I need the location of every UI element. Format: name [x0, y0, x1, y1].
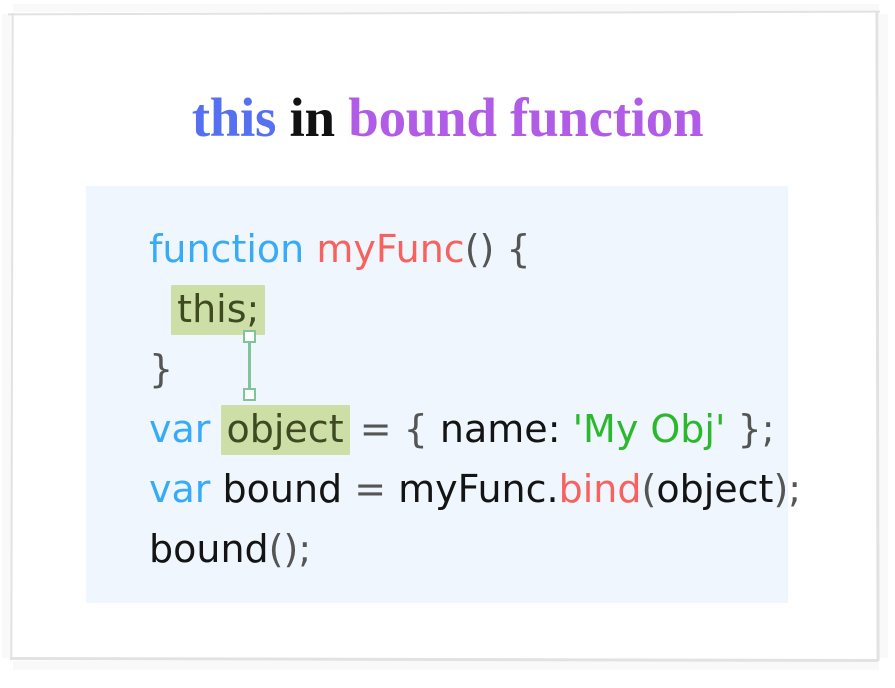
code-token: myFunc	[386, 467, 546, 511]
code-token: {	[404, 407, 428, 451]
code-token	[304, 227, 316, 271]
code-line: }	[149, 339, 801, 399]
code-lines: function myFunc() { this;}var object = {…	[149, 219, 801, 579]
code-token: }	[149, 347, 173, 391]
code-block: function myFunc() { this;}var object = {…	[86, 186, 788, 603]
code-token: ;	[298, 527, 311, 571]
code-line: this;	[149, 279, 801, 339]
code-token-highlight-object[interactable]: object	[221, 405, 350, 455]
code-line: var object = { name: 'My Obj' };	[149, 399, 801, 459]
code-token	[149, 287, 173, 331]
code-token	[348, 407, 360, 451]
code-token: myFunc	[316, 227, 464, 271]
code-token: .	[547, 467, 559, 511]
code-token: function	[149, 227, 304, 271]
code-token: )	[773, 467, 788, 511]
code-token: bind	[559, 467, 642, 511]
code-line: bound();	[149, 519, 801, 579]
code-token: var	[149, 407, 210, 451]
code-token: (	[642, 467, 657, 511]
code-token: bound	[149, 527, 269, 571]
code-token: :	[548, 407, 561, 451]
slide-title: this in bound function	[0, 85, 895, 151]
code-token: =	[360, 407, 392, 451]
title-segment-bound-function: bound function	[348, 87, 703, 148]
code-token	[725, 407, 737, 451]
frame-shade-bottom	[13, 661, 879, 670]
title-segment-this: this	[192, 87, 276, 148]
code-token: name	[428, 407, 548, 451]
code-token: var	[149, 467, 210, 511]
code-token: 'My Obj'	[573, 407, 726, 451]
code-token	[392, 407, 404, 451]
code-token: =	[354, 467, 386, 511]
code-line: function myFunc() {	[149, 219, 801, 279]
code-token: bound	[210, 467, 354, 511]
title-space	[276, 87, 289, 148]
code-token	[561, 407, 573, 451]
code-token: ;	[762, 407, 775, 451]
code-token: ()	[269, 527, 299, 571]
slide-frame: this in bound function function myFunc()…	[0, 0, 895, 688]
code-token: object	[656, 467, 773, 511]
title-space	[335, 87, 348, 148]
code-token: ;	[788, 467, 801, 511]
code-token: () {	[465, 227, 531, 271]
code-token-highlight-this[interactable]: this;	[171, 285, 265, 335]
code-line: var bound = myFunc.bind(object);	[149, 459, 801, 519]
title-segment-in: in	[290, 87, 335, 148]
code-token: }	[738, 407, 762, 451]
